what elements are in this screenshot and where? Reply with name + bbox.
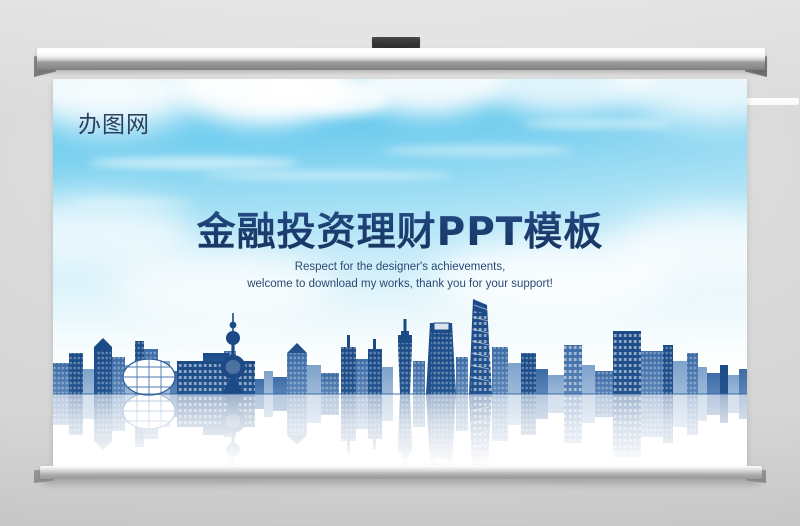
cloud-wisp	[89, 157, 299, 169]
subtitle-line-1: Respect for the designer's achievements,	[53, 259, 747, 276]
page-subtitle: Respect for the designer's achievements,…	[53, 259, 747, 293]
projection-screen-surface[interactable]: 办图网 金融投资理财PPT模板 Respect for the designer…	[53, 79, 747, 466]
shanghai-skyline-illustration	[53, 291, 747, 466]
screen-roller-casing	[37, 48, 765, 70]
weight-bar-shadow	[44, 479, 758, 489]
cloud-wisp	[523, 119, 673, 129]
watermark-text: 办图网	[78, 105, 150, 139]
screen-weight-bar[interactable]	[40, 466, 762, 479]
cloud-wisp	[383, 145, 573, 156]
projector-screen-assembly: 办图网 金融投资理财PPT模板 Respect for the designer…	[0, 0, 800, 526]
page-title: 金融投资理财PPT模板	[53, 201, 747, 257]
cloud-wisp	[203, 171, 453, 180]
